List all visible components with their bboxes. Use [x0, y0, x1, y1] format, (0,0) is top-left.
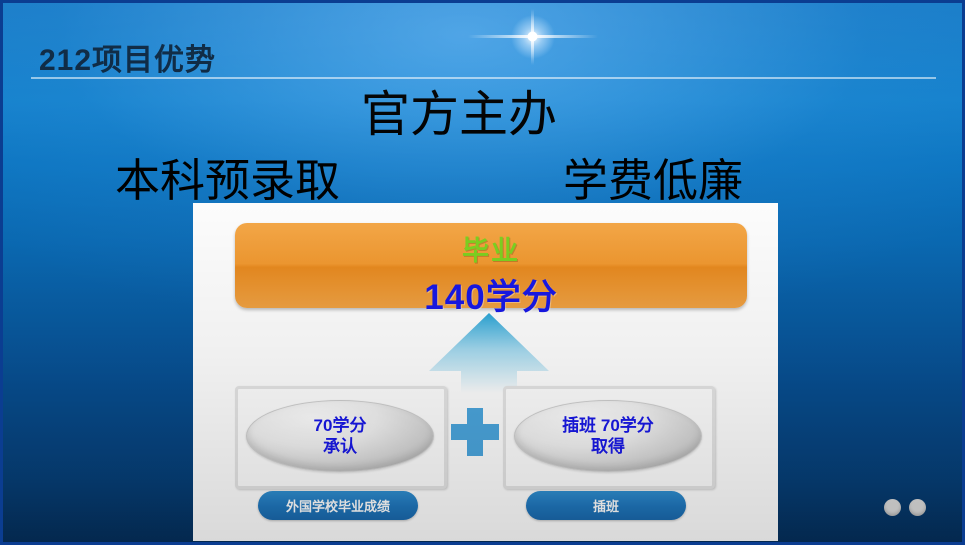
- page-title: 212项目优势: [39, 35, 216, 79]
- left-credit-line1: 70学分: [314, 415, 367, 436]
- graduation-bar: 毕业 140学分: [235, 223, 747, 308]
- right-credit-box: 插班 70学分 取得: [503, 386, 715, 489]
- right-credit-ellipse: 插班 70学分 取得: [514, 400, 702, 472]
- left-credit-ellipse: 70学分 承认: [246, 400, 434, 472]
- headline-main: 官方主办: [361, 75, 557, 146]
- plus-vertical-bar: [467, 408, 483, 456]
- diagram-panel: 毕业 140学分 70学分 承认: [193, 203, 778, 541]
- graduation-label: 毕业: [235, 229, 747, 268]
- up-arrow-icon: [389, 313, 589, 393]
- headline-right: 学费低廉: [563, 144, 743, 209]
- right-source-pill: 插班: [526, 491, 686, 520]
- presentation-slide: 212项目优势 官方主办 本科预录取 学费低廉 毕业 140学分: [0, 0, 965, 545]
- left-credit-line2: 承认: [323, 436, 357, 457]
- plus-icon: [451, 408, 499, 456]
- dot-icon-1: [884, 499, 901, 516]
- left-credit-box: 70学分 承认: [235, 386, 447, 489]
- left-source-pill: 外国学校毕业成绩: [258, 491, 418, 520]
- headline-left: 本科预录取: [115, 144, 340, 209]
- right-credit-line2: 取得: [591, 436, 625, 457]
- slide-dots: [884, 499, 926, 516]
- right-credit-line1: 插班 70学分: [562, 415, 654, 436]
- sparkle-icon: [468, 9, 598, 65]
- dot-icon-2: [909, 499, 926, 516]
